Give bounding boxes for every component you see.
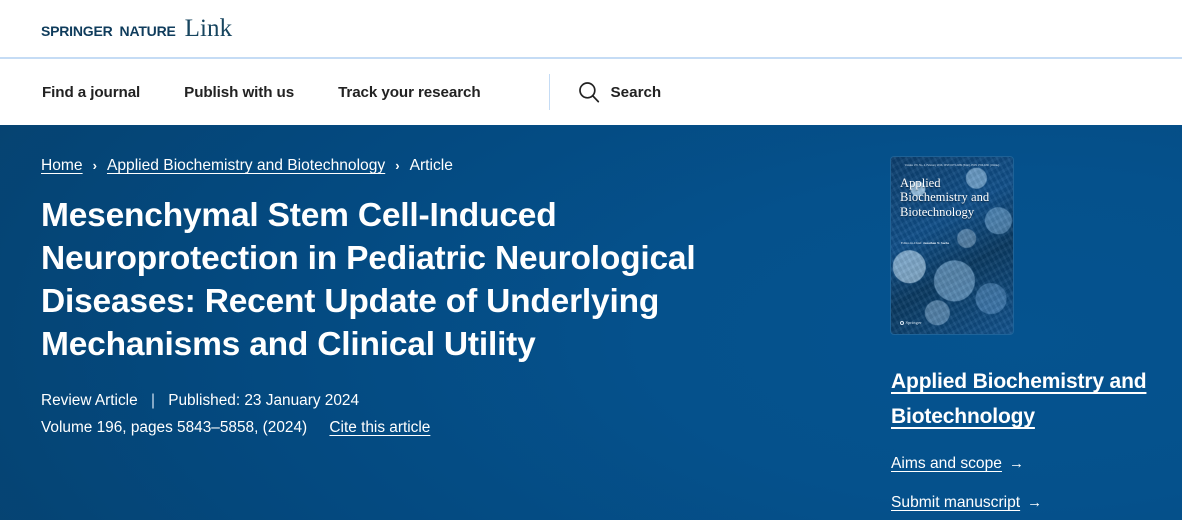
- cover-editor-prefix: Editor-in-Chief:: [901, 241, 922, 245]
- published-date: Published: 23 January 2024: [168, 392, 359, 409]
- search-icon: [578, 81, 600, 103]
- cover-banner-text: Volume 176, No. 4, February 2016, ISSN 0…: [891, 164, 1013, 167]
- submit-manuscript-link[interactable]: Submit manuscript→: [891, 494, 1181, 512]
- journal-title-link[interactable]: Applied Biochemistry and Biotechnology: [891, 364, 1159, 434]
- nav-item-list: Find a journal Publish with us Track you…: [42, 74, 661, 110]
- logo-word-link: Link: [185, 15, 233, 43]
- aims-and-scope-link[interactable]: Aims and scope→: [891, 455, 1181, 473]
- submit-manuscript-label: Submit manuscript: [891, 494, 1020, 511]
- arrow-right-icon: →: [1009, 455, 1024, 472]
- site-header: Springer Nature Link: [0, 0, 1182, 59]
- article-meta-secondary: Volume 196, pages 5843–5858, (2024) Cite…: [41, 414, 847, 441]
- article-meta-primary: Review Article | Published: 23 January 2…: [41, 387, 847, 414]
- cover-editor-line: Editor-in-Chief: Jonathan N. Sachs: [901, 241, 949, 245]
- cover-journal-title: Applied Biochemistry and Biotechnology: [900, 176, 1007, 219]
- springer-nature-link-logo[interactable]: Springer Nature Link: [41, 15, 232, 43]
- nav-publish-with-us[interactable]: Publish with us: [184, 84, 294, 101]
- main-navigation: Find a journal Publish with us Track you…: [0, 59, 1182, 125]
- cover-publisher-logo: Springer: [900, 320, 922, 325]
- hero-main-column: Home › Applied Biochemistry and Biotechn…: [41, 157, 847, 512]
- journal-cover-image[interactable]: Volume 176, No. 4, February 2016, ISSN 0…: [891, 157, 1013, 334]
- breadcrumb-chevron-icon: ›: [93, 158, 97, 173]
- breadcrumb-item-journal[interactable]: Applied Biochemistry and Biotechnology: [107, 157, 385, 175]
- springer-mark-icon: [900, 321, 904, 325]
- search-button[interactable]: Search: [578, 81, 662, 103]
- cover-publisher-name: Springer: [906, 320, 922, 325]
- cite-this-article-link[interactable]: Cite this article: [329, 419, 430, 436]
- logo-word-nature: Nature: [120, 18, 176, 42]
- nav-track-your-research[interactable]: Track your research: [338, 84, 480, 101]
- breadcrumb-item-home[interactable]: Home: [41, 157, 83, 175]
- breadcrumb: Home › Applied Biochemistry and Biotechn…: [41, 157, 847, 175]
- journal-sidebar: Volume 176, No. 4, February 2016, ISSN 0…: [891, 157, 1181, 512]
- meta-separator: |: [151, 387, 155, 414]
- search-label: Search: [611, 84, 662, 101]
- page-title: Mesenchymal Stem Cell-Induced Neuroprote…: [41, 194, 811, 366]
- nav-divider: [549, 74, 550, 110]
- article-type: Review Article: [41, 392, 138, 409]
- article-hero: Home › Applied Biochemistry and Biotechn…: [0, 125, 1182, 520]
- nav-find-a-journal[interactable]: Find a journal: [42, 84, 140, 101]
- logo-word-springer: Springer: [41, 18, 113, 42]
- breadcrumb-chevron-icon: ›: [395, 158, 399, 173]
- arrow-right-icon: →: [1027, 494, 1042, 511]
- aims-and-scope-label: Aims and scope: [891, 455, 1002, 472]
- cover-editor-name: Jonathan N. Sachs: [923, 241, 949, 245]
- volume-and-pages: Volume 196, pages 5843–5858, (2024): [41, 419, 307, 436]
- breadcrumb-item-article: Article: [410, 157, 453, 175]
